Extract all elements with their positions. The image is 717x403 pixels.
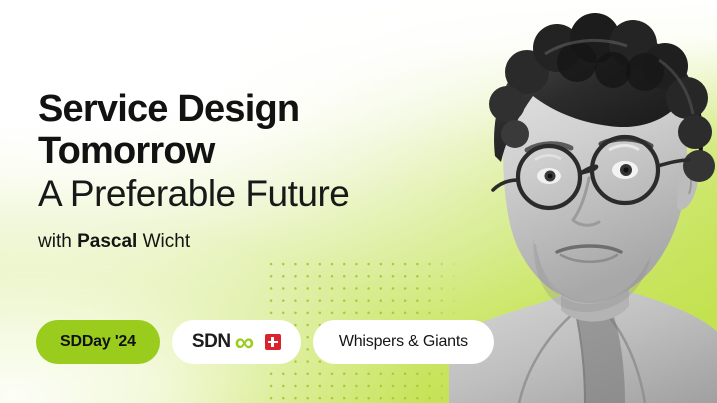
promo-banner: Service Design Tomorrow A Preferable Fut… — [0, 0, 717, 403]
badge-partner-label: Whispers & Giants — [339, 333, 468, 351]
presenter-first-name: Pascal — [77, 231, 137, 252]
headline-block: Service Design Tomorrow A Preferable Fut… — [38, 88, 468, 254]
badge-sdn-logo[interactable]: SDN ∞ — [172, 320, 301, 364]
sdn-wordmark: SDN — [192, 331, 231, 353]
badge-row: SDDay '24 SDN ∞ Whispers & Giants — [36, 320, 494, 364]
presenter-prefix: with — [38, 231, 77, 252]
title-line-1: Service Design — [38, 88, 468, 130]
badge-event-label: SDDay '24 — [60, 333, 136, 351]
infinity-icon: ∞ — [235, 333, 254, 352]
title-line-2: Tomorrow — [38, 130, 468, 172]
swiss-flag-icon — [265, 334, 281, 350]
subtitle-line: A Preferable Future — [38, 172, 468, 216]
badge-event[interactable]: SDDay '24 — [36, 320, 160, 364]
presenter-line: with Pascal Wicht — [38, 230, 468, 254]
badge-partner[interactable]: Whispers & Giants — [313, 320, 494, 364]
presenter-last-name: Wicht — [137, 231, 190, 252]
